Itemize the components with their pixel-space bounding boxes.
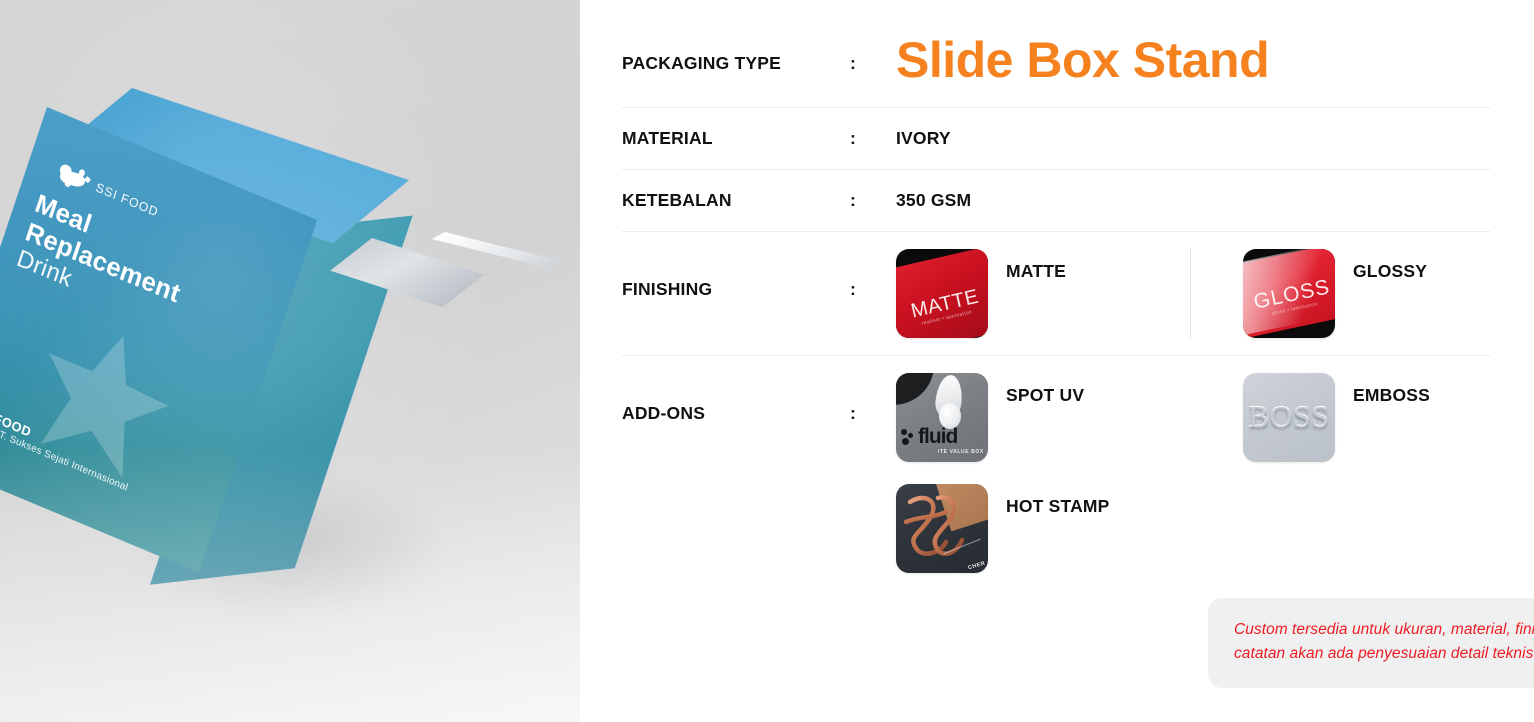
addon-label-emboss: EMBOSS xyxy=(1353,373,1430,406)
box-mockup: SSI FOOD Meal Replacement Drink SSI FOOD… xyxy=(0,0,580,722)
spec-colon-packaging-type: : xyxy=(850,53,896,74)
ssi-food-logo-icon xyxy=(56,161,94,195)
addon-left-col: fluid ITE VALUE BOX SPOT UV xyxy=(896,373,1191,573)
addon-label-hot-stamp: HOT STAMP xyxy=(1006,484,1110,517)
spec-value-material: IVORY xyxy=(896,128,1490,149)
finishing-label-matte: MATTE xyxy=(1006,249,1066,282)
custom-note-text: Custom tersedia untuk ukuran, material, … xyxy=(1234,618,1534,666)
hot-stamp-swatch-icon[interactable]: CHER xyxy=(896,484,988,573)
spec-label-ketebalan: KETEBALAN xyxy=(622,190,850,211)
spec-value-packaging-type: Slide Box Stand xyxy=(896,35,1490,85)
finishing-option-matte[interactable]: MATTE realism • lamination MATTE xyxy=(896,249,1191,338)
matte-swatch-icon[interactable]: MATTE realism • lamination xyxy=(896,249,988,338)
addon-option-emboss[interactable]: BOSS EMBOSS xyxy=(1243,373,1486,462)
spec-label-addons: ADD-ONS xyxy=(622,373,850,424)
spec-colon-finishing: : xyxy=(850,249,896,300)
hot-stamp-script-icon xyxy=(900,488,974,564)
glossy-swatch-icon[interactable]: GLOSS gloss • lamination xyxy=(1243,249,1335,338)
spec-row-packaging-type: PACKAGING TYPE : Slide Box Stand xyxy=(622,0,1490,108)
spec-colon-addons: : xyxy=(850,373,896,424)
spec-table-panel: PACKAGING TYPE : Slide Box Stand MATERIA… xyxy=(580,0,1534,722)
addon-label-spot-uv: SPOT UV xyxy=(1006,373,1084,406)
addon-option-hot-stamp[interactable]: CHER HOT STAMP xyxy=(896,484,1191,573)
spec-row-addons: ADD-ONS : fluid ITE VALUE BOX xyxy=(622,356,1490,590)
spec-row-material: MATERIAL : IVORY xyxy=(622,108,1490,170)
spot-uv-swatch-icon[interactable]: fluid ITE VALUE BOX xyxy=(896,373,988,462)
spec-label-packaging-type: PACKAGING TYPE xyxy=(622,53,850,74)
emboss-swatch-text: BOSS xyxy=(1243,399,1335,435)
spec-row-finishing: FINISHING : MATTE realism • lamination M… xyxy=(622,232,1490,356)
spot-uv-swatch-text: fluid xyxy=(918,425,957,449)
spec-sheet-page: SSI FOOD Meal Replacement Drink SSI FOOD… xyxy=(0,0,1534,722)
spec-table: PACKAGING TYPE : Slide Box Stand MATERIA… xyxy=(622,0,1490,590)
spot-uv-dark-corner xyxy=(896,373,938,405)
finishing-option-glossy-col: GLOSS gloss • lamination GLOSSY xyxy=(1190,249,1485,338)
custom-note-box: Custom tersedia untuk ukuran, material, … xyxy=(1208,598,1534,688)
spec-colon-material: : xyxy=(850,128,896,149)
emboss-swatch-icon[interactable]: BOSS xyxy=(1243,373,1335,462)
spec-label-material: MATERIAL xyxy=(622,128,850,149)
spec-row-ketebalan: KETEBALAN : 350 GSM xyxy=(622,170,1490,232)
finishing-options: MATTE realism • lamination MATTE GLOSS xyxy=(896,249,1490,338)
spot-uv-dots-icon xyxy=(901,429,917,447)
spot-uv-swatch-subtext: ITE VALUE BOX xyxy=(938,449,984,455)
spec-value-ketebalan: 350 GSM xyxy=(896,190,1490,211)
addon-right-col: BOSS EMBOSS xyxy=(1191,373,1486,573)
addon-option-spot-uv[interactable]: fluid ITE VALUE BOX SPOT UV xyxy=(896,373,1191,462)
spec-colon-ketebalan: : xyxy=(850,190,896,211)
finishing-option-glossy[interactable]: GLOSS gloss • lamination GLOSSY xyxy=(1243,249,1485,338)
box-brand-name: SSI FOOD xyxy=(94,180,160,219)
finishing-label-glossy: GLOSSY xyxy=(1353,249,1427,282)
spec-label-finishing: FINISHING xyxy=(622,249,850,300)
finishing-option-matte-col: MATTE realism • lamination MATTE xyxy=(896,249,1191,338)
addon-options: fluid ITE VALUE BOX SPOT UV xyxy=(896,373,1490,573)
product-image-panel: SSI FOOD Meal Replacement Drink SSI FOOD… xyxy=(0,0,580,722)
